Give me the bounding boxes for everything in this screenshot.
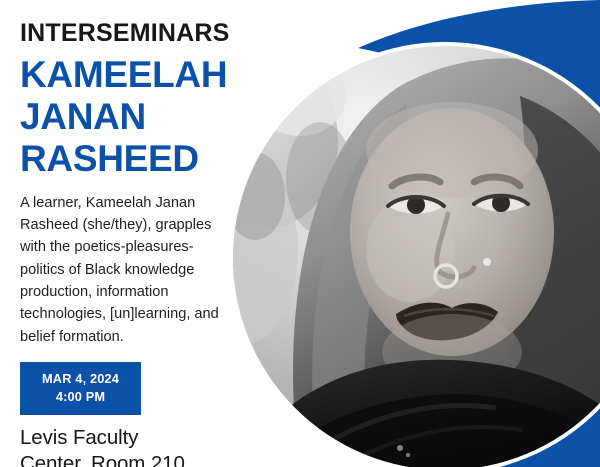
- event-poster: INTERSEMINARS KAMEELAH JANAN RASHEED A l…: [0, 0, 600, 467]
- event-date-badge: MAR 4, 2024 4:00 PM: [20, 362, 141, 415]
- speaker-name-line-1: KAMEELAH: [20, 54, 252, 96]
- series-title: INTERSEMINARS: [20, 20, 252, 46]
- event-time: 4:00 PM: [42, 388, 119, 406]
- venue-line-1: Levis Faculty: [20, 425, 252, 451]
- speaker-name-line-3: RASHEED: [20, 138, 252, 180]
- speaker-bio: A learner, Kameelah Janan Rasheed (she/t…: [20, 192, 235, 348]
- speaker-name-line-2: JANAN: [20, 96, 252, 138]
- event-venue: Levis Faculty Center, Room 210: [20, 425, 252, 467]
- event-date: MAR 4, 2024: [42, 370, 119, 388]
- venue-line-2: Center, Room 210: [20, 451, 252, 467]
- portrait-ring: [229, 42, 600, 467]
- poster-content: INTERSEMINARS KAMEELAH JANAN RASHEED A l…: [20, 20, 252, 467]
- speaker-name: KAMEELAH JANAN RASHEED: [20, 54, 252, 179]
- blue-curved-shape: [358, 0, 600, 467]
